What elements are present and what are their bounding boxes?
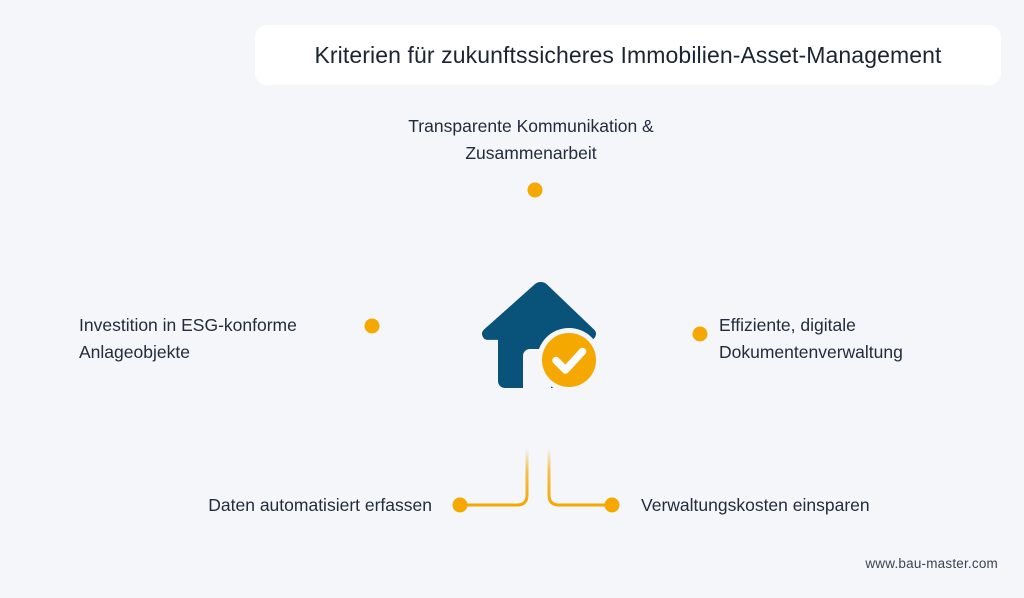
connector-left — [365, 319, 453, 334]
connector-right — [618, 327, 708, 342]
node-label-left: Investition in ESG-konforme Anlageobjekt… — [79, 312, 359, 366]
title-card: Kriterien für zukunftssicheres Immobilie… — [255, 25, 1001, 85]
node-label-right: Effiziente, digitale Dokumentenverwaltun… — [719, 312, 999, 366]
infographic-canvas: Kriterien für zukunftssicheres Immobilie… — [0, 0, 1024, 598]
house-with-check-badge-icon — [468, 282, 608, 392]
node-label-bottom-left: Daten automatisiert erfassen — [110, 492, 432, 519]
node-label-bottom-right: Verwaltungskosten einsparen — [641, 492, 961, 519]
node-label-top: Transparente Kommunikation & Zusammenarb… — [371, 113, 691, 167]
page-title: Kriterien für zukunftssicheres Immobilie… — [314, 42, 941, 69]
connector-dot-left — [365, 319, 380, 334]
connector-dot-bottom-left — [453, 498, 468, 513]
connector-top — [528, 183, 543, 267]
connector-bottom-left — [453, 450, 528, 513]
footer-website: www.bau-master.com — [865, 556, 998, 571]
connector-dot-bottom-right — [605, 498, 620, 513]
connector-dot-top — [528, 183, 543, 198]
badge-circle — [542, 333, 596, 387]
connector-bottom-right — [549, 450, 620, 513]
connector-dot-right — [693, 327, 708, 342]
